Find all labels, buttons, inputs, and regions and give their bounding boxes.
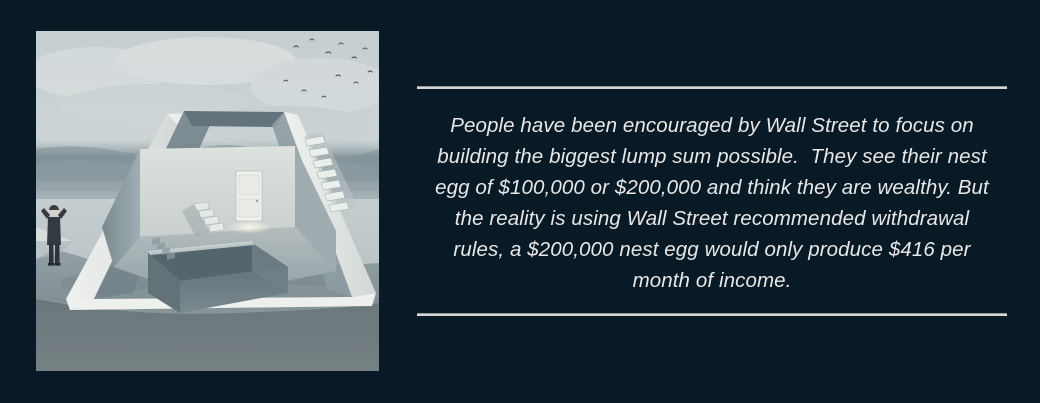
pit-illustration-svg: [36, 31, 379, 371]
quote-line: the reality is using Wall Street recomme…: [417, 203, 1007, 234]
divider-rule-bottom: [417, 313, 1007, 316]
quote-slide: People have been encouraged by Wall Stre…: [0, 0, 1040, 403]
quote-line: building the biggest lump sum possible. …: [417, 141, 1007, 172]
divider-rule-top: [417, 86, 1007, 89]
illustration-image: [36, 31, 379, 371]
quote-line: rules, a $200,000 nest egg would only pr…: [417, 234, 1007, 265]
quote-line: month of income.: [417, 265, 1007, 296]
quote-block: People have been encouraged by Wall Stre…: [417, 80, 1007, 320]
quote-line: egg of $100,000 or $200,000 and think th…: [417, 172, 1007, 203]
haze-overlay: [36, 31, 379, 371]
quote-text: People have been encouraged by Wall Stre…: [417, 110, 1007, 296]
quote-line: People have been encouraged by Wall Stre…: [417, 110, 1007, 141]
